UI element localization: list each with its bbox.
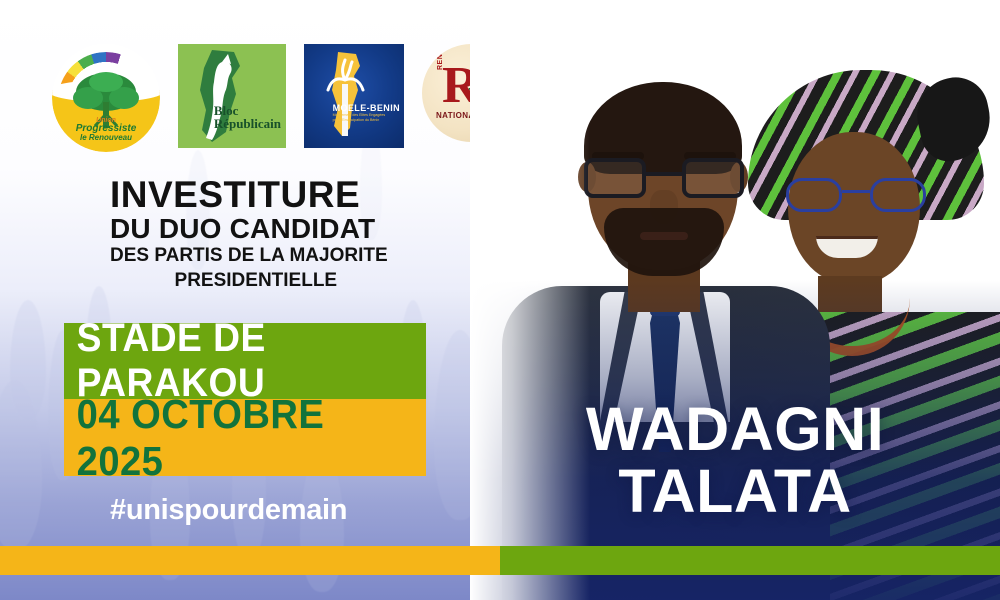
candidate-names: WADAGNI TALATA xyxy=(470,398,1000,522)
horse-map-icon xyxy=(182,46,260,146)
mouth xyxy=(640,232,688,240)
palm-tree-map-icon xyxy=(320,50,372,140)
event-bands: STADE DE PARAKOU 04 OCTOBRE 2025 xyxy=(64,323,426,476)
hashtag-text: #unispourdemain xyxy=(110,494,347,527)
bloc-republicain-logo: Bloc Républicain xyxy=(178,44,286,148)
venue-band: STADE DE PARAKOU xyxy=(64,323,426,399)
beard xyxy=(604,208,724,276)
headline-line3: DES PARTIS DE LA MAJORITE xyxy=(110,244,388,269)
mb-line2: Mouvement des Elites Engagées pour l'Ema… xyxy=(333,113,389,122)
br-line1: Bloc xyxy=(214,104,281,117)
headline-line1: INVESTITURE xyxy=(110,176,388,213)
headline-line2: DU DUO CANDIDAT xyxy=(110,213,388,244)
mb-line1: MOELE-BENIN xyxy=(333,103,400,113)
date-text: 04 OCTOBRE 2025 xyxy=(77,391,414,485)
up-logo: Union Progressiste le Renouveau xyxy=(52,44,160,152)
candidate-name-talata: TALATA xyxy=(470,460,1000,522)
candidate-name-wadagni: WADAGNI xyxy=(470,398,1000,460)
headline-line4: PRESIDENTIELLE xyxy=(110,269,388,293)
party-logos-row: Union Progressiste le Renouveau Bloc Rép… xyxy=(52,44,520,152)
campaign-poster: Union Progressiste le Renouveau Bloc Rép… xyxy=(0,0,1000,600)
headwrap-knot xyxy=(910,71,997,166)
up-logo-text: Union Progressiste le Renouveau xyxy=(52,117,160,142)
moele-benin-logo: MOELE-BENIN Mouvement des Elites Engagée… xyxy=(304,44,404,148)
glasses-icon xyxy=(584,158,744,198)
date-band: 04 OCTOBRE 2025 xyxy=(64,399,426,476)
bloc-republicain-text: Bloc Républicain xyxy=(214,104,281,131)
bottom-color-bar xyxy=(0,546,1000,575)
bottom-bar-yellow xyxy=(0,546,500,575)
bottom-bar-green xyxy=(500,546,1000,575)
moele-benin-text: MOELE-BENIN Mouvement des Elites Engagée… xyxy=(333,103,400,122)
up-logo-line3: le Renouveau xyxy=(52,134,160,142)
br-line2: Républicain xyxy=(214,117,281,130)
headline-block: INVESTITURE DU DUO CANDIDAT DES PARTIS D… xyxy=(110,176,388,293)
